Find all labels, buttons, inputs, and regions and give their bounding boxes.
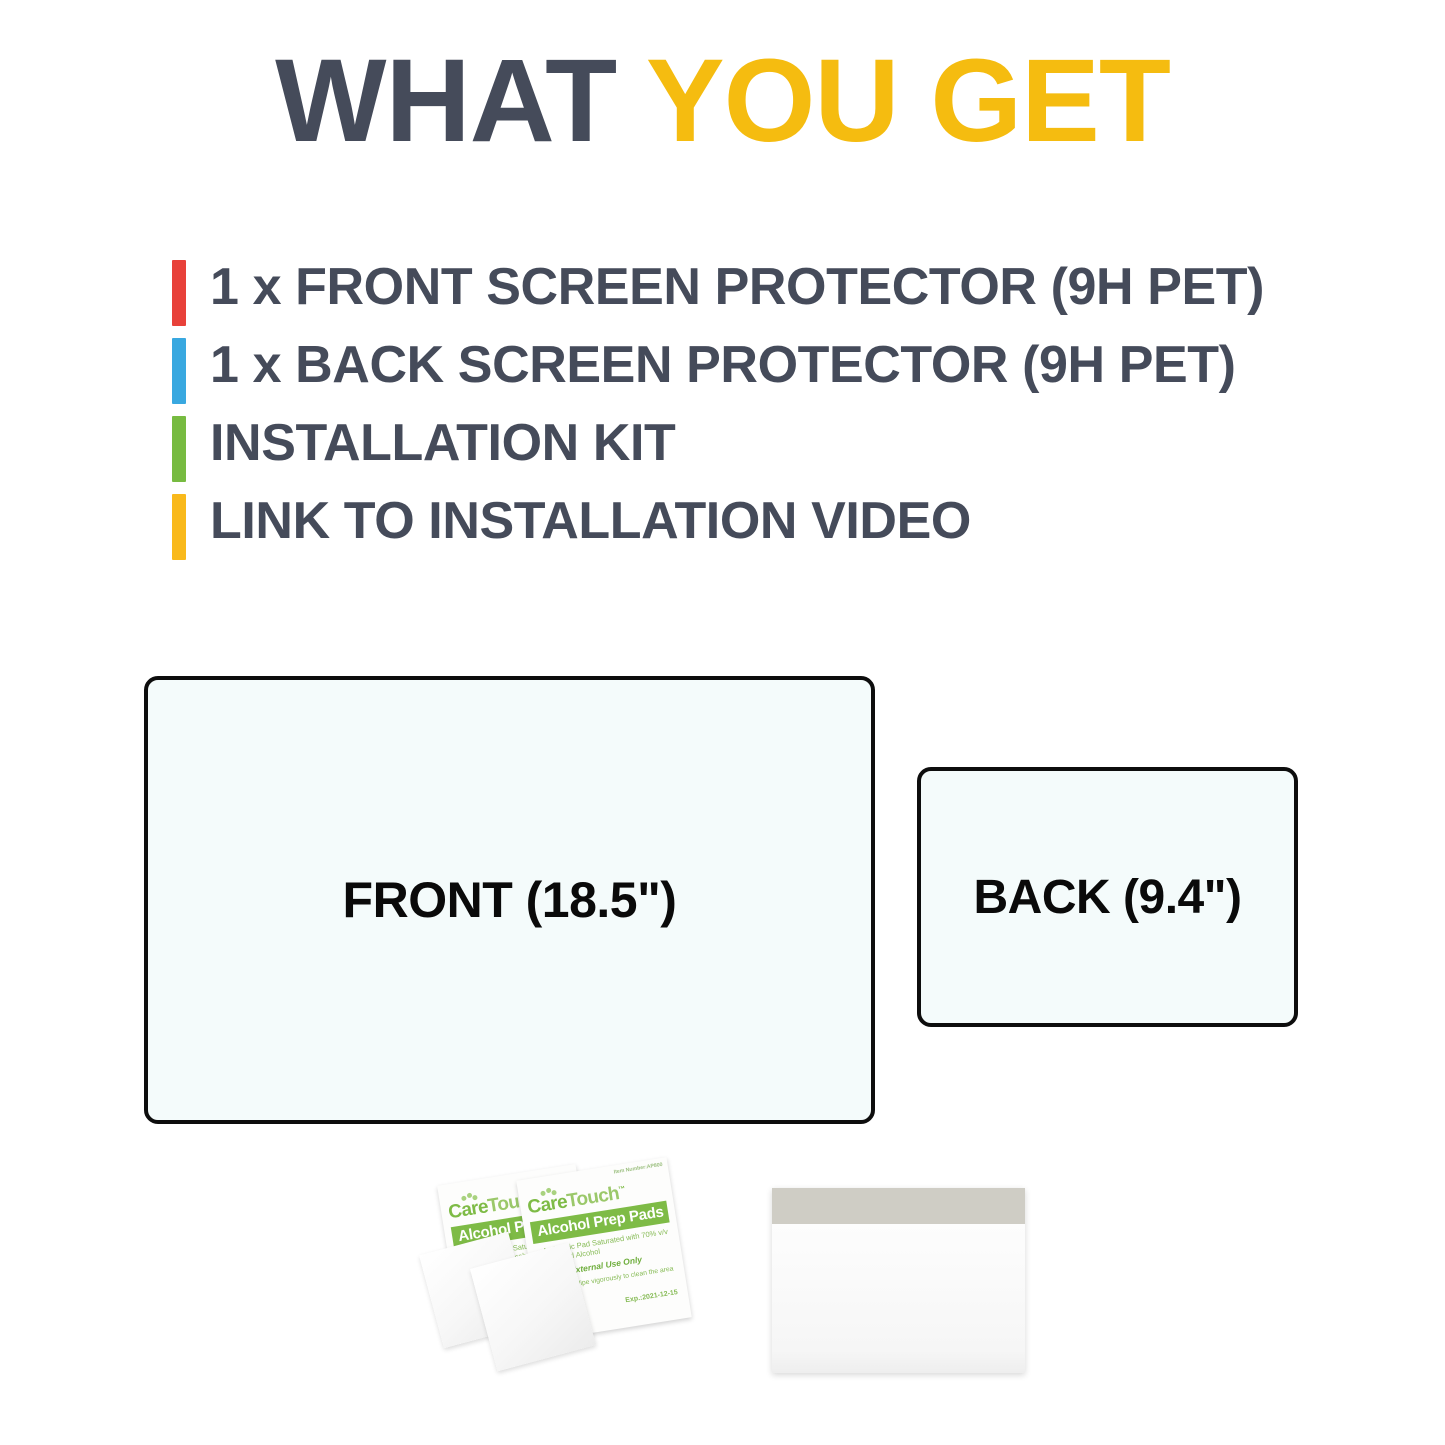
accessories-row: CareTouch Alcohol Prep Pads Antiseptic P…	[0, 1150, 1445, 1410]
feature-label: LINK TO INSTALLATION VIDEO	[210, 486, 971, 564]
page-title: WHAT YOU GET	[0, 38, 1445, 165]
list-item: INSTALLATION KIT	[172, 408, 1332, 486]
trademark-symbol: ™	[618, 1186, 625, 1194]
bullet-bar-yellow	[172, 494, 186, 560]
feature-label: 1 x FRONT SCREEN PROTECTOR (9H PET)	[210, 252, 1264, 330]
back-screen-protector-panel: BACK (9.4")	[917, 767, 1298, 1027]
back-panel-label: BACK (9.4")	[974, 870, 1242, 925]
bullet-bar-blue	[172, 338, 186, 404]
list-item: 1 x FRONT SCREEN PROTECTOR (9H PET)	[172, 252, 1332, 330]
item-number-text: Item Number:AP800	[614, 1163, 664, 1177]
bullet-bar-red	[172, 260, 186, 326]
front-panel-label: FRONT (18.5")	[343, 871, 677, 929]
expiry-date-text: Exp.:2021-12-15	[625, 1289, 679, 1305]
squeegee-body	[772, 1224, 1025, 1373]
list-item: LINK TO INSTALLATION VIDEO	[172, 486, 1332, 564]
feature-list: 1 x FRONT SCREEN PROTECTOR (9H PET) 1 x …	[172, 252, 1332, 564]
what-you-get-infographic: WHAT YOU GET 1 x FRONT SCREEN PROTECTOR …	[0, 0, 1445, 1445]
page-title-dark: WHAT	[275, 35, 646, 167]
alcohol-prep-pads-cluster: CareTouch Alcohol Prep Pads Antiseptic P…	[430, 1150, 730, 1400]
page-title-gold: YOU GET	[646, 35, 1170, 167]
feature-label: 1 x BACK SCREEN PROTECTOR (9H PET)	[210, 330, 1236, 408]
bullet-bar-green	[172, 416, 186, 482]
front-screen-protector-panel: FRONT (18.5")	[144, 676, 875, 1124]
list-item: 1 x BACK SCREEN PROTECTOR (9H PET)	[172, 330, 1332, 408]
feature-label: INSTALLATION KIT	[210, 408, 675, 486]
squeegee-card	[772, 1188, 1025, 1373]
brand-touch: Touch	[565, 1183, 620, 1212]
squeegee-felt-strip	[772, 1188, 1025, 1224]
